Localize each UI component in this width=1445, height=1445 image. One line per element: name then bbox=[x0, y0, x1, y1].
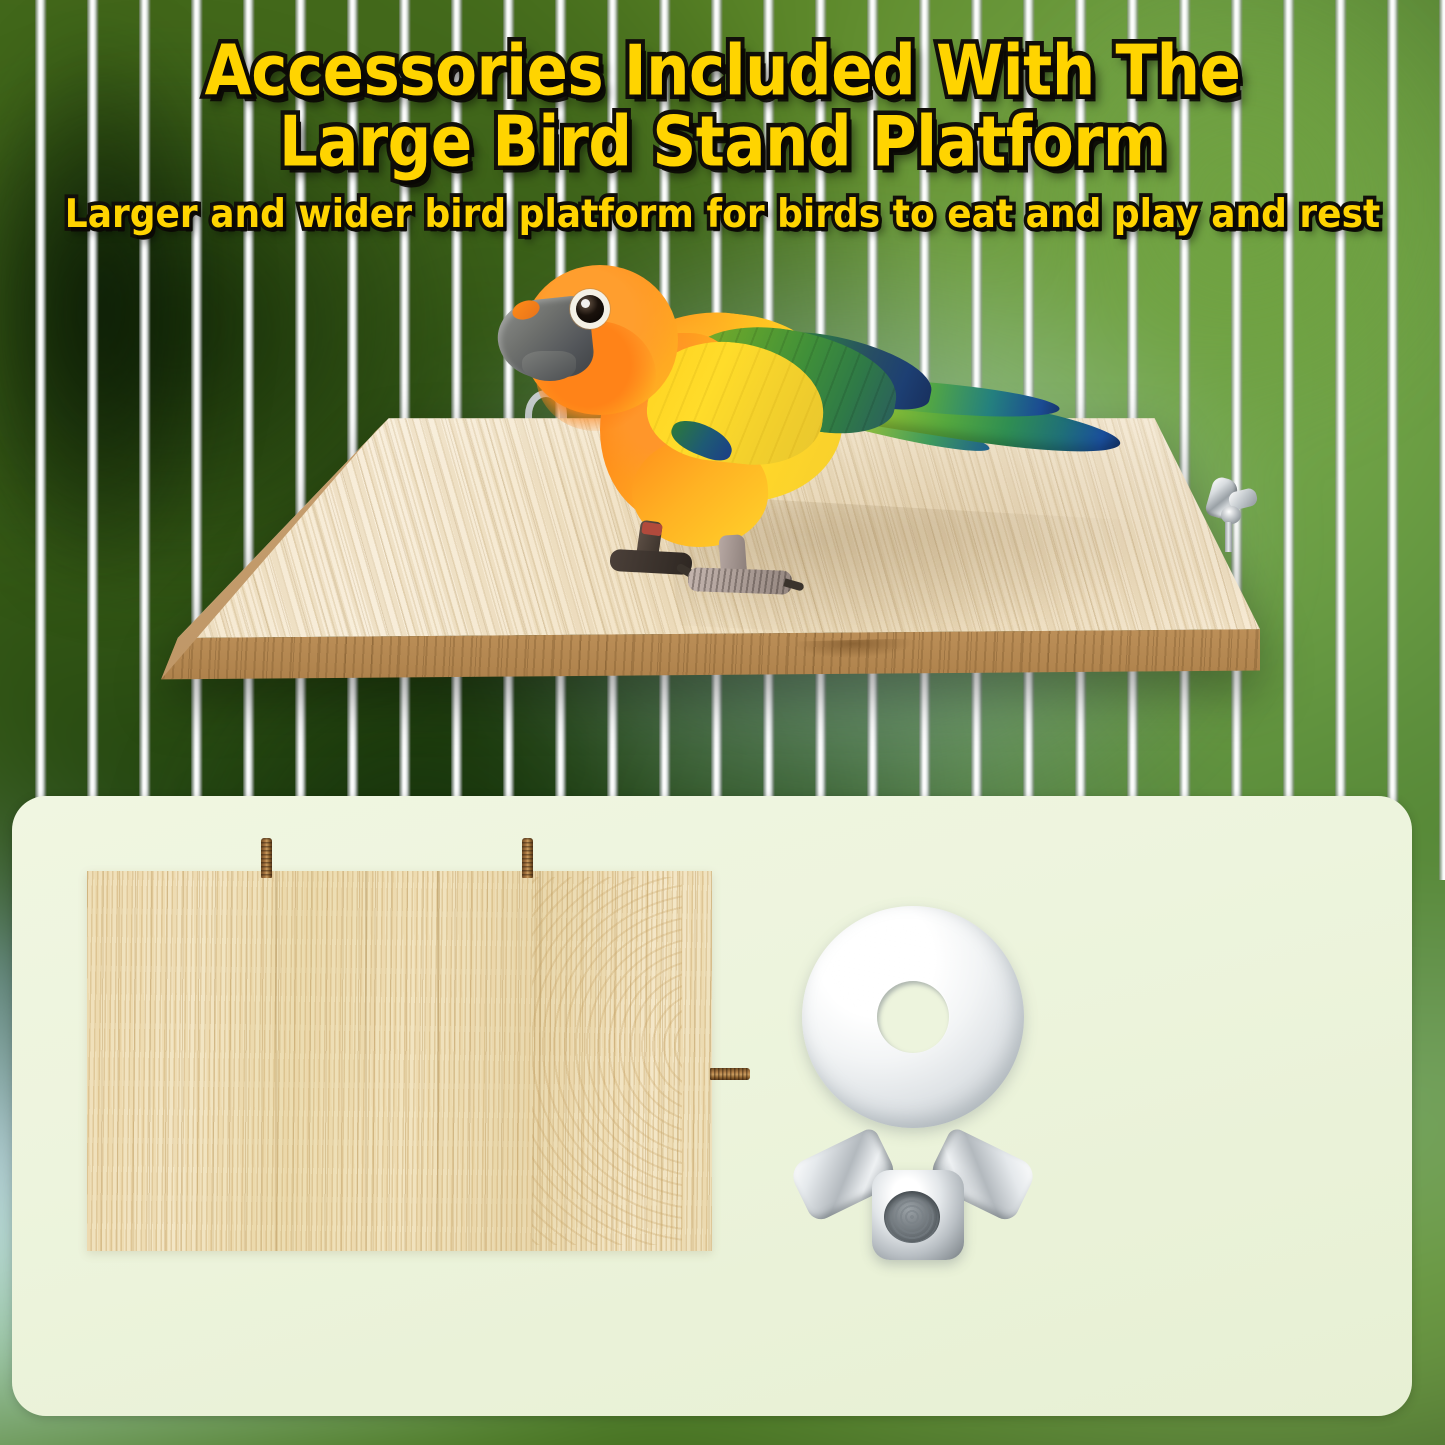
bird-beak-lower bbox=[522, 351, 576, 381]
bird-eye bbox=[576, 295, 604, 323]
wing-nut-icon bbox=[794, 1144, 1030, 1284]
board-bolt-top-right bbox=[522, 838, 533, 878]
board-bolt-right bbox=[710, 1068, 750, 1080]
bird-leg-band bbox=[641, 522, 662, 537]
infographic-stage: Accessories Included With The Large Bird… bbox=[0, 0, 1445, 1445]
washer-shim-icon bbox=[802, 906, 1024, 1128]
wing-nut-thread-hole bbox=[884, 1191, 940, 1243]
board-bolt-top-left bbox=[261, 838, 272, 878]
board-seam-2 bbox=[365, 871, 367, 1251]
board-seam-1 bbox=[275, 871, 277, 1251]
sun-conure-parrot bbox=[492, 247, 1132, 607]
wooden-board-icon bbox=[87, 871, 712, 1251]
wing-nut-mount-icon bbox=[1205, 470, 1261, 530]
bird-foot-front bbox=[688, 567, 793, 595]
board-grain-arc bbox=[532, 877, 682, 1245]
platform-wood-knot bbox=[794, 638, 914, 659]
accessories-included-panel bbox=[12, 796, 1412, 1416]
mount-post-icon bbox=[1225, 522, 1232, 552]
bird-eye-glint bbox=[581, 299, 590, 308]
shim-center-hole bbox=[877, 981, 949, 1053]
board-seam-3 bbox=[437, 871, 439, 1251]
